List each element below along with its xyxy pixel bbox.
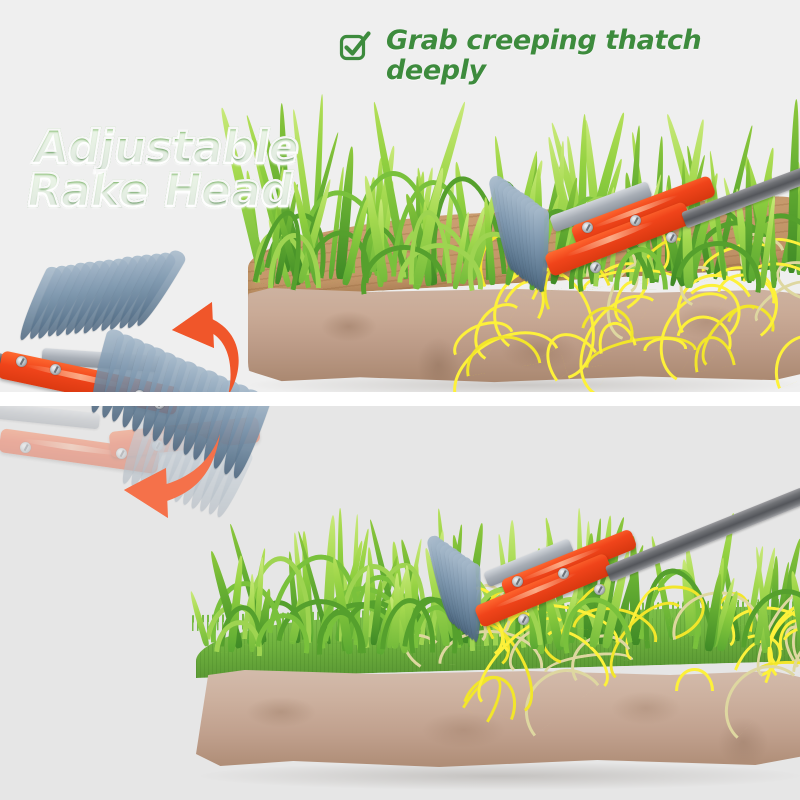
panel-divider	[0, 392, 800, 406]
screw	[630, 215, 641, 226]
screw	[666, 232, 677, 243]
caption-text: Grab creeping thatch deeply	[386, 26, 800, 85]
screw	[558, 568, 569, 579]
screw	[512, 576, 523, 587]
rake-tool-bottom	[412, 534, 800, 694]
checkbox-checked-icon	[338, 29, 372, 63]
screw	[594, 584, 605, 595]
caption-grab-thatch: Grab creeping thatch deeply	[338, 26, 800, 85]
arrow-down-icon	[110, 428, 230, 538]
headline-line-2: Rake Head	[23, 169, 296, 212]
rake-handle	[605, 487, 800, 582]
screw	[16, 356, 27, 367]
rake-tool-top	[470, 170, 800, 360]
page-title: Adjustable Rake Head	[23, 126, 302, 212]
arrow-up-icon	[150, 292, 260, 402]
screw	[518, 614, 529, 625]
infographic-page: Grab creeping thatch deeply	[0, 0, 800, 800]
screw	[582, 222, 593, 233]
screw	[590, 262, 601, 273]
screw	[50, 364, 61, 375]
